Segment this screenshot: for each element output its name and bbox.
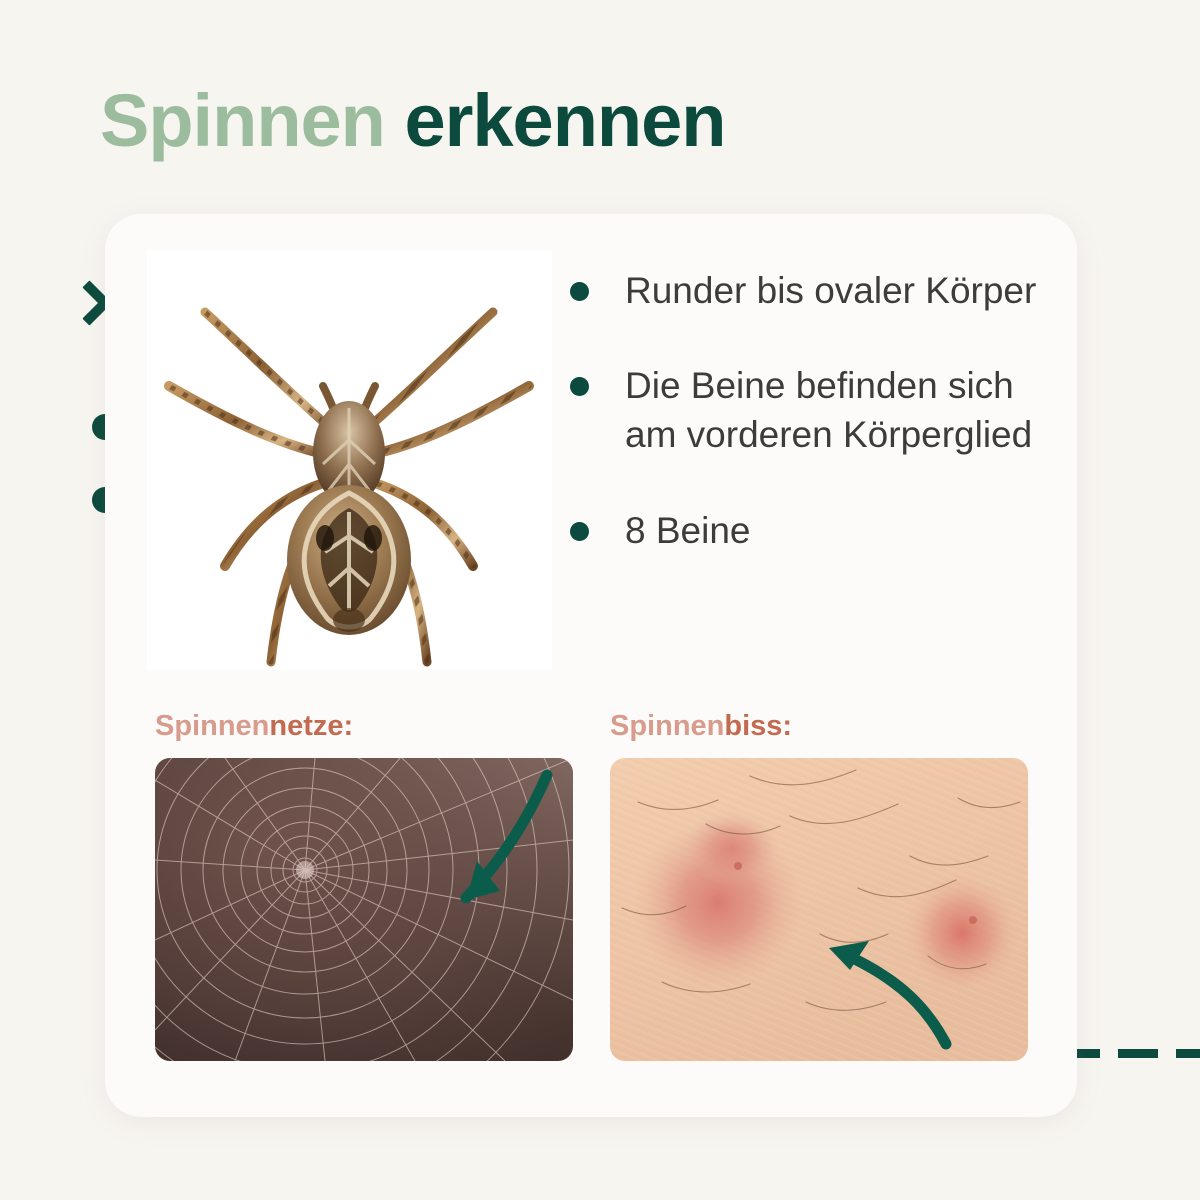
bullet-text: 8 Beine — [625, 506, 751, 555]
spiderweb-section: Spinnennetze: — [155, 710, 575, 1061]
spiderbite-caption-dark: biss: — [724, 710, 792, 742]
spider-image — [147, 250, 552, 670]
spiderweb-image — [155, 758, 573, 1061]
list-item: Runder bis ovaler Körper — [570, 266, 1040, 315]
list-item: Die Beine befinden sich am vorderen Körp… — [570, 361, 1040, 459]
dashed-line-decoration — [1060, 1049, 1200, 1058]
spiderbite-image — [610, 758, 1028, 1061]
content-card: Runder bis ovaler Körper Die Beine befin… — [105, 214, 1077, 1117]
bullet-dot-icon — [570, 282, 589, 301]
spiderweb-caption-light: Spinnen — [155, 710, 269, 742]
spiderweb-caption: Spinnennetze: — [155, 710, 575, 743]
page-title-dark: erkennen — [385, 79, 726, 162]
list-item: 8 Beine — [570, 506, 1040, 555]
page-title: Spinnen erkennen — [100, 84, 725, 158]
spiderweb-caption-dark: netze: — [269, 710, 353, 742]
spiderbite-caption-light: Spinnen — [610, 710, 724, 742]
spiderbite-caption: Spinnenbiss: — [610, 710, 1030, 743]
bullet-text: Die Beine befinden sich am vorderen Körp… — [625, 361, 1040, 459]
bullet-dot-icon — [570, 522, 589, 541]
spiderbite-section: Spinnenbiss: — [610, 710, 1030, 1061]
bullet-text: Runder bis ovaler Körper — [625, 266, 1036, 315]
feature-bullet-list: Runder bis ovaler Körper Die Beine befin… — [570, 266, 1040, 555]
spider-info-row: Runder bis ovaler Körper Die Beine befin… — [105, 214, 1077, 684]
page-title-light: Spinnen — [100, 79, 385, 162]
bullet-dot-icon — [570, 377, 589, 396]
